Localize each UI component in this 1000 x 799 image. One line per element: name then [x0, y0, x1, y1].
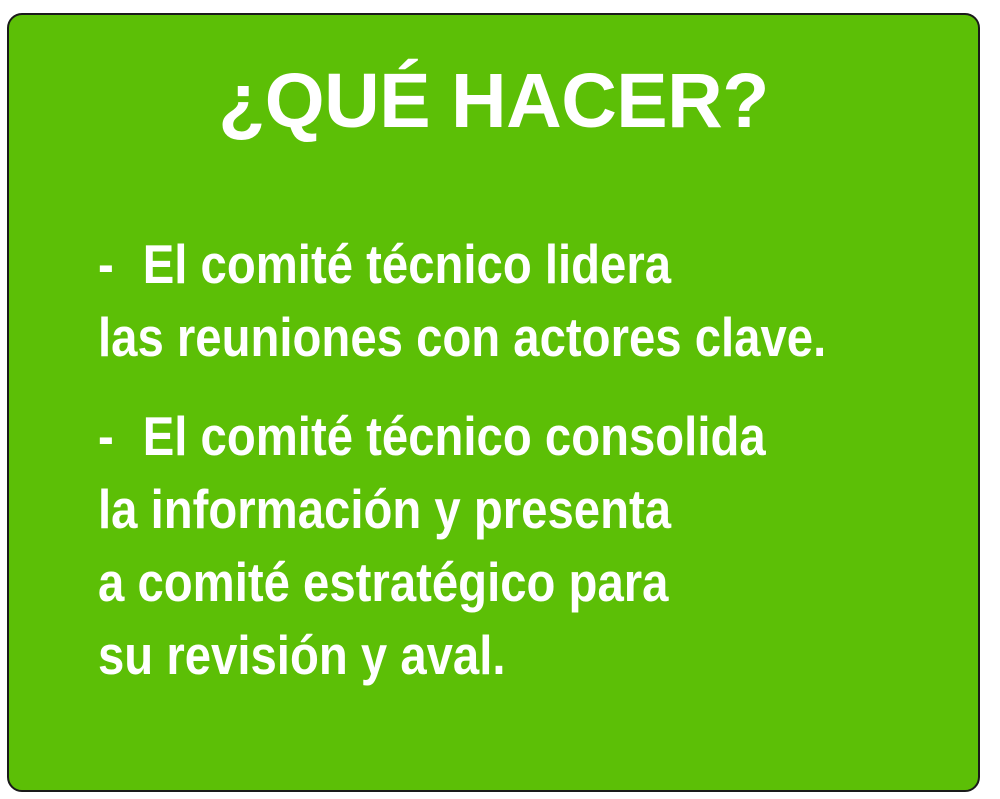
- list-item: -El comité técnico consolida la informac…: [98, 400, 838, 692]
- bullet-dash-icon: -: [98, 400, 143, 473]
- bullet-list: -El comité técnico lidera las reuniones …: [98, 228, 958, 692]
- list-item-text: El comité técnico lidera las reuniones c…: [98, 233, 826, 368]
- list-item-text: El comité técnico consolida la informaci…: [98, 405, 766, 686]
- page-title: ¿QUÉ HACER?: [9, 63, 978, 140]
- green-info-card: ¿QUÉ HACER? -El comité técnico lidera la…: [7, 13, 980, 792]
- list-item: -El comité técnico lidera las reuniones …: [98, 228, 838, 374]
- bullet-dash-icon: -: [98, 228, 143, 301]
